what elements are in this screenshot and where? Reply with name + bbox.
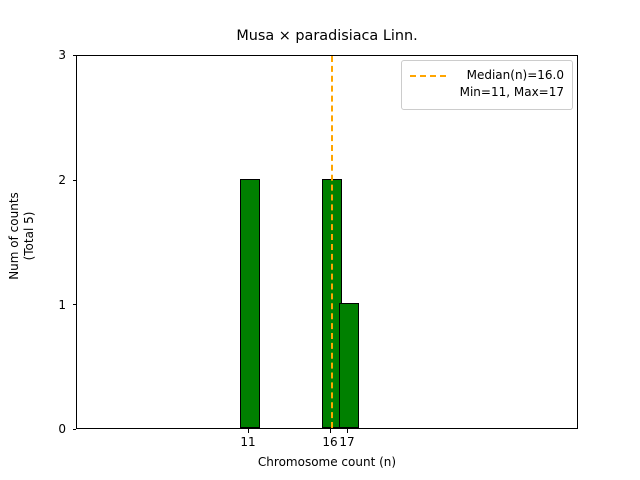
x-tick-mark-17 — [347, 429, 348, 433]
plot-area — [76, 55, 578, 429]
y-tick-label-0: 0 — [6, 423, 66, 435]
legend-entry-line-2: Min=11, Max=17 — [454, 84, 564, 101]
x-tick-label-11: 11 — [228, 436, 268, 448]
x-tick-label-17: 17 — [327, 436, 367, 448]
y-axis-label: Num of counts (Total 5) — [7, 46, 37, 426]
y-tick-label-1: 1 — [6, 299, 66, 311]
x-tick-mark-16 — [330, 429, 331, 433]
y-tick-mark-0 — [73, 429, 77, 430]
chart-title: Musa × paradisiaca Linn. — [76, 28, 578, 45]
y-axis-label-container: Num of counts (Total 5) — [0, 0, 44, 480]
legend-entry-line-1: Median(n)=16.0 — [454, 67, 564, 84]
x-axis-label: Chromosome count (n) — [76, 455, 578, 469]
legend-dashed-line-swatch — [410, 68, 446, 84]
legend-entry-median: Median(n)=16.0 Min=11, Max=17 — [454, 67, 564, 102]
y-tick-label-2: 2 — [6, 174, 66, 186]
legend[interactable]: Median(n)=16.0 Min=11, Max=17 — [401, 60, 573, 110]
chart-figure: Musa × paradisiaca Linn. Num of counts (… — [0, 0, 640, 480]
y-tick-label-3: 3 — [6, 49, 66, 61]
bar-11[interactable] — [240, 179, 260, 428]
x-tick-mark-11 — [248, 429, 249, 433]
bar-17[interactable] — [339, 303, 359, 428]
median-line — [331, 56, 333, 428]
